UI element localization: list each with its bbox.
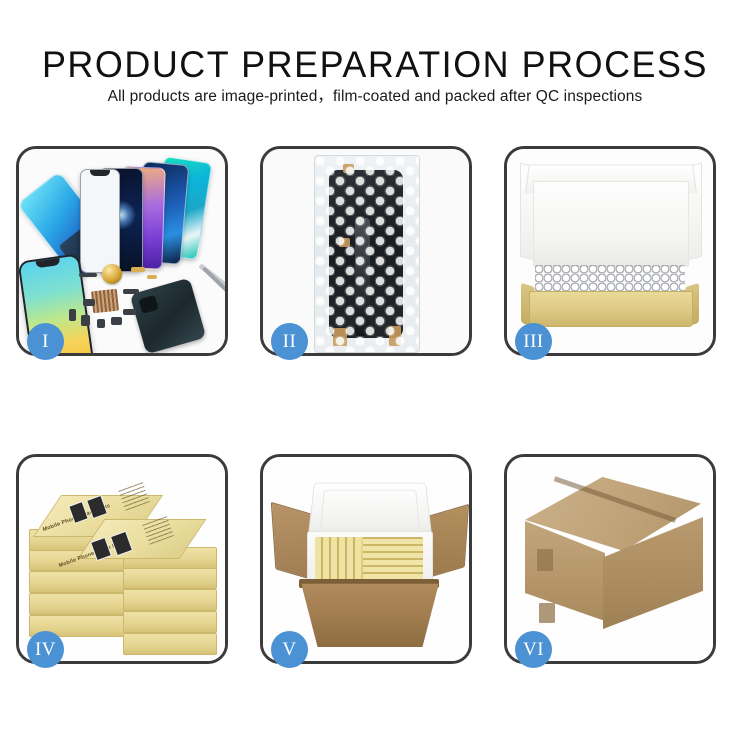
carton-body <box>301 583 439 647</box>
phone-back-cover <box>130 278 207 353</box>
part-bit-1 <box>79 273 97 277</box>
foam-sheet <box>533 181 689 267</box>
stack-box-r3 <box>123 611 217 633</box>
stack-box-r4 <box>123 633 217 655</box>
process-steps-grid: I II <box>16 146 734 680</box>
packed-kraft-boxes <box>315 537 423 579</box>
part-bit-9 <box>123 289 139 294</box>
tweezer-tool-arm <box>202 267 225 302</box>
step-5-image <box>263 457 469 661</box>
phone-glass-panel <box>80 169 120 273</box>
stack-box-r1 <box>123 567 217 589</box>
step-6-image <box>507 457 713 661</box>
stack-box-l3 <box>29 593 127 615</box>
part-bit-10 <box>69 309 76 321</box>
part-bit-2 <box>131 267 145 272</box>
page-subtitle: All products are image-printed，film-coat… <box>0 88 750 107</box>
bubble-wrap-fill <box>535 265 685 293</box>
kraft-box-front <box>529 291 693 327</box>
step-3-image <box>507 149 713 353</box>
carton-tape-upper <box>537 549 553 571</box>
stack-box-l2 <box>29 571 127 593</box>
part-bit-4 <box>83 299 95 306</box>
speaker-component <box>102 264 122 284</box>
bubble-wrap-bag <box>314 155 420 353</box>
step-badge-4: IV <box>27 631 64 668</box>
step-2-image <box>263 149 469 353</box>
step-panel-4: Mobile Phone Spare Parts Mobile Phone Sp… <box>16 454 228 664</box>
part-bit-7 <box>111 317 122 325</box>
part-bit-3 <box>147 275 157 279</box>
step-badge-1: I <box>27 323 64 360</box>
step-badge-3: III <box>515 323 552 360</box>
step-panel-2: II <box>260 146 472 356</box>
step-4-image: Mobile Phone Spare Parts Mobile Phone Sp… <box>19 457 225 661</box>
page-title: PRODUCT PREPARATION PROCESS <box>11 46 739 83</box>
part-bit-8 <box>123 309 136 315</box>
step-badge-2: II <box>271 323 308 360</box>
step-panel-1: I <box>16 146 228 356</box>
kraft-box-stack: Mobile Phone Spare Parts Mobile Phone Sp… <box>25 475 221 651</box>
step-panel-3: III <box>504 146 716 356</box>
phone-screen-fan <box>79 159 225 269</box>
bubble-texture <box>315 156 419 352</box>
carton-tape-lower <box>539 603 555 623</box>
product-preparation-infographic: PRODUCT PREPARATION PROCESS All products… <box>0 0 750 750</box>
stack-box-r2 <box>123 589 217 611</box>
step-badge-6: VI <box>515 631 552 668</box>
step-panel-6: VI <box>504 454 716 664</box>
part-bit-6 <box>97 319 105 328</box>
part-bit-5 <box>81 315 90 326</box>
step-badge-5: V <box>271 631 308 668</box>
styrofoam-lid <box>308 483 433 539</box>
step-panel-5: V <box>260 454 472 664</box>
step-1-image <box>19 149 225 353</box>
chip-component <box>91 289 119 314</box>
